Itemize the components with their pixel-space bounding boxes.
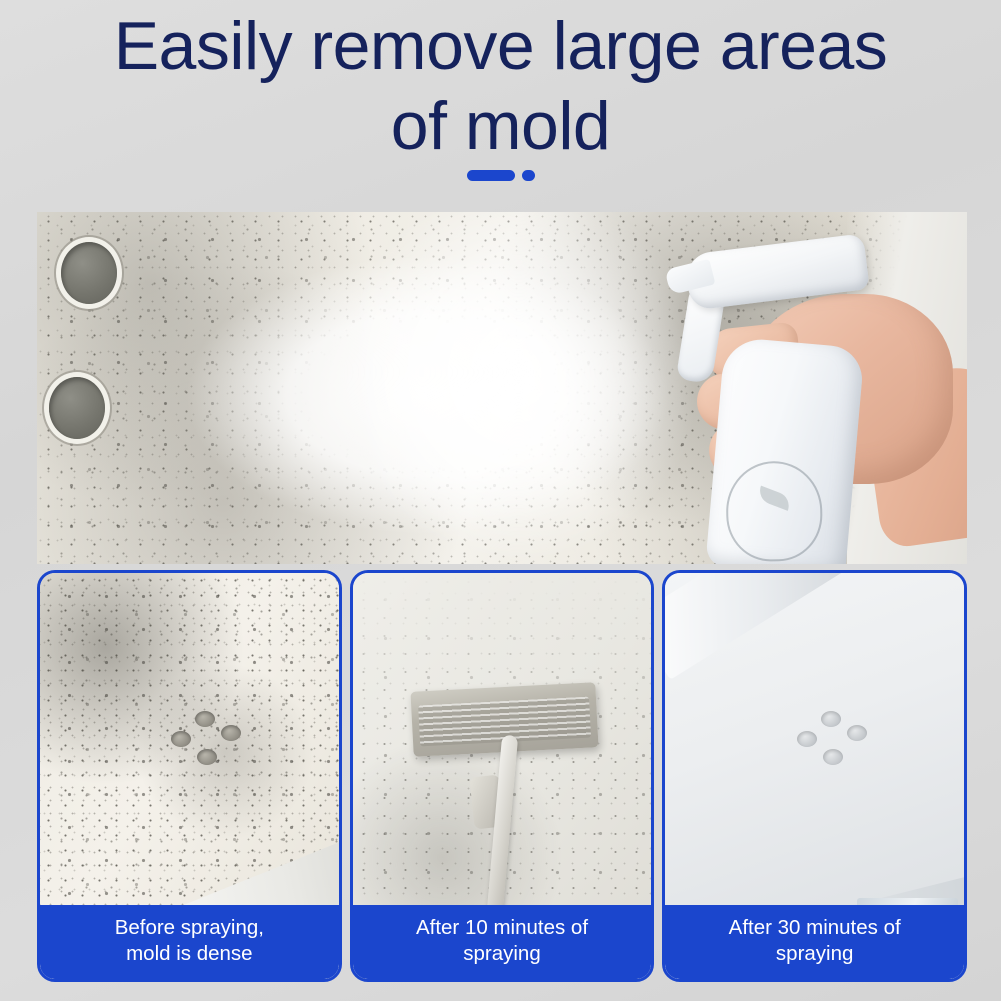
panel-after-30: After 30 minutes of spraying — [662, 570, 967, 982]
panel-after-10: After 10 minutes of spraying — [350, 570, 655, 982]
headline-line-1: Easily remove large areas — [114, 8, 888, 84]
spray-bottle — [657, 230, 967, 564]
decoration-bar — [467, 170, 515, 181]
panel-caption: After 10 minutes of spraying — [353, 905, 652, 979]
caption-line-2: mold is dense — [46, 941, 333, 967]
ceiling-dot-icon — [823, 749, 843, 765]
panel-before: Before spraying, mold is dense — [37, 570, 342, 982]
product-banner: Easily remove large areas of mold — [0, 0, 1001, 1001]
panel-caption: Before spraying, mold is dense — [40, 905, 339, 979]
caption-line-1: Before spraying, — [115, 916, 264, 939]
title-decoration — [0, 170, 1001, 181]
page-title: Easily remove large areas of mold — [0, 12, 1001, 160]
hero-image — [37, 212, 967, 564]
shower-fixture-icon — [61, 242, 117, 304]
ceiling-dot-icon — [171, 731, 191, 747]
headline-line-2: of mold — [0, 92, 1001, 160]
bottle-body — [705, 336, 865, 564]
ceiling-fixture-group — [797, 711, 871, 771]
caption-line-1: After 30 minutes of — [729, 916, 901, 939]
ceiling-dot-icon — [195, 711, 215, 727]
bottle-label — [725, 460, 823, 562]
ceiling-fixture-group — [171, 711, 245, 771]
decoration-dot — [522, 170, 535, 181]
shower-fixture-icon — [49, 377, 105, 439]
panel-caption: After 30 minutes of spraying — [665, 905, 964, 979]
ceiling-dot-icon — [197, 749, 217, 765]
caption-line-1: After 10 minutes of — [416, 916, 588, 939]
caption-line-2: spraying — [359, 941, 646, 967]
ceiling-dot-icon — [221, 725, 241, 741]
caption-line-2: spraying — [671, 941, 958, 967]
ceiling-beam-top — [662, 570, 848, 680]
comparison-panels: Before spraying, mold is dense After 10 … — [37, 570, 967, 982]
ceiling-dot-icon — [797, 731, 817, 747]
ceiling-dot-icon — [847, 725, 867, 741]
ceiling-dot-icon — [821, 711, 841, 727]
